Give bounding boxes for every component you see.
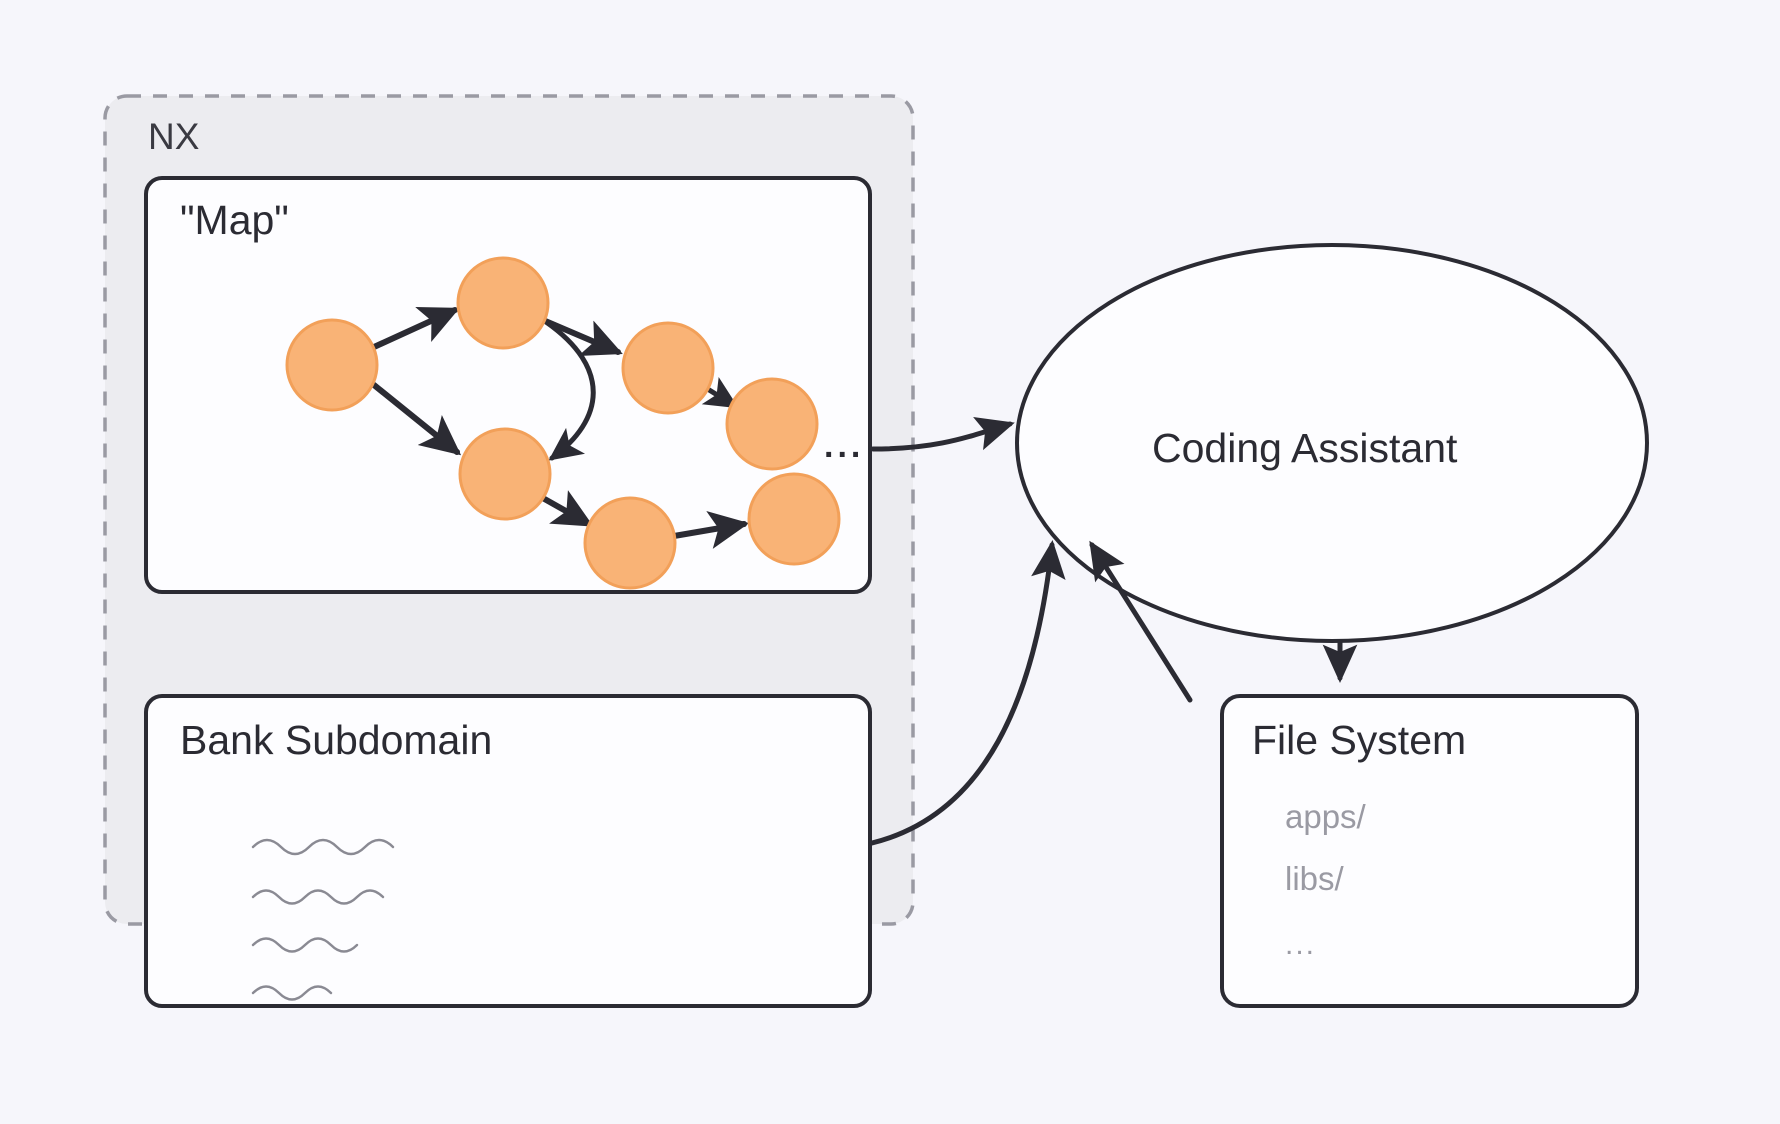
graph-node[interactable]	[460, 429, 550, 519]
file-system-title: File System	[1252, 720, 1466, 761]
graph-node[interactable]	[458, 258, 548, 348]
map-panel-title: "Map"	[180, 200, 289, 241]
file-system-item-apps: apps/	[1285, 800, 1366, 833]
file-system-item-libs: libs/	[1285, 862, 1344, 895]
graph-node[interactable]	[727, 379, 817, 469]
file-system-item-more: ...	[1285, 930, 1316, 960]
diagram-svg	[0, 0, 1780, 1124]
diagram-canvas: NX "Map" ... Bank Subdomain Coding Assis…	[0, 0, 1780, 1124]
nx-container-label: NX	[148, 118, 199, 155]
graph-node[interactable]	[585, 498, 675, 588]
coding-assistant-label: Coding Assistant	[1152, 428, 1457, 469]
graph-node[interactable]	[749, 474, 839, 564]
map-graph-ellipsis: ...	[824, 429, 864, 463]
graph-node[interactable]	[623, 323, 713, 413]
graph-node[interactable]	[287, 320, 377, 410]
bank-subdomain-title: Bank Subdomain	[180, 720, 492, 761]
